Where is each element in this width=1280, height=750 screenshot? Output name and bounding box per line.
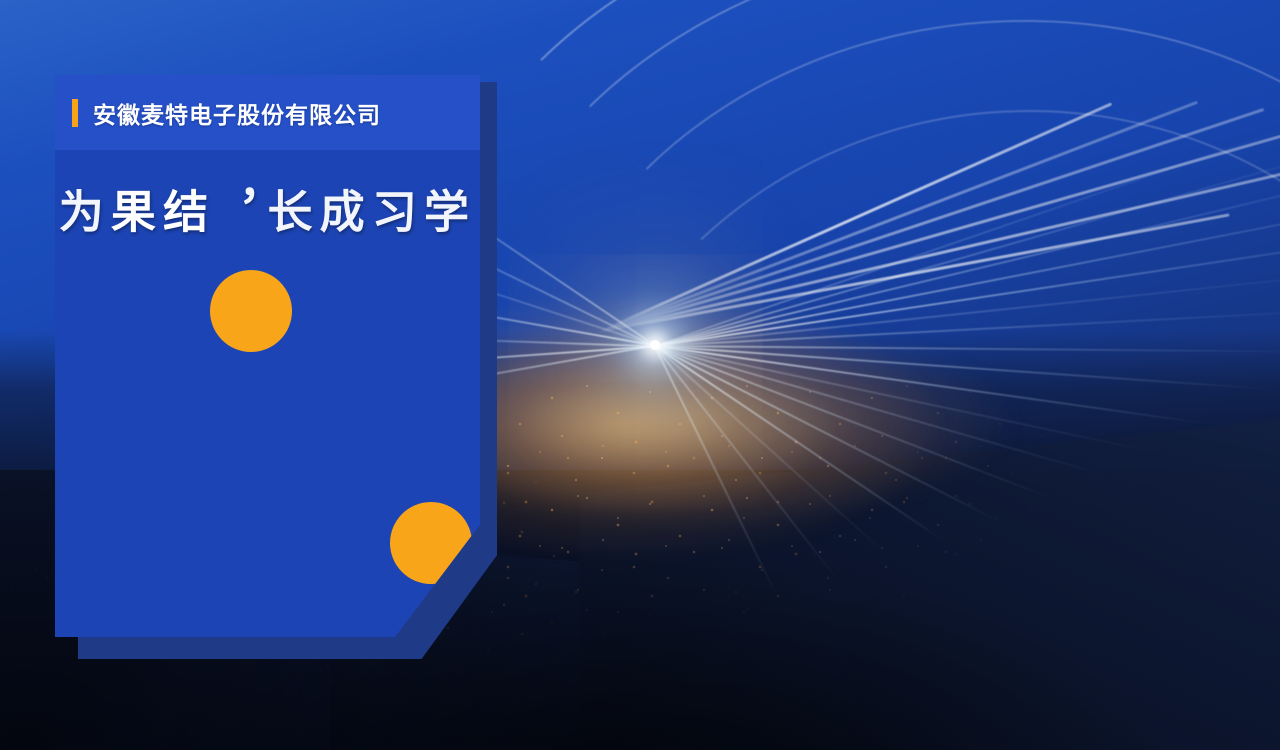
slogan-char: 成 (311, 188, 363, 237)
slogan-column-1: 学习成长，结果为王 (0, 188, 468, 237)
page-title: 安徽麦特电子股份有限公司 (93, 96, 381, 130)
slogan-char: 为 (51, 188, 103, 237)
slogan-char: ， (207, 188, 259, 237)
title-accent-bar (72, 99, 78, 127)
slogan-char: 长 (259, 188, 311, 237)
panel-header: 安徽麦特电子股份有限公司 (55, 75, 480, 150)
slogan-char: 学 (416, 188, 468, 237)
company-info-panel: 安徽麦特电子股份有限公司 学习成长，结果为王 诚实守信，积极向上 团队合作，迎接… (55, 75, 480, 637)
highlight-circle-tuandui (210, 270, 292, 352)
slogan-char: 结 (155, 188, 207, 237)
slogan-char: 果 (103, 188, 155, 237)
slogan-char: 习 (364, 188, 416, 237)
